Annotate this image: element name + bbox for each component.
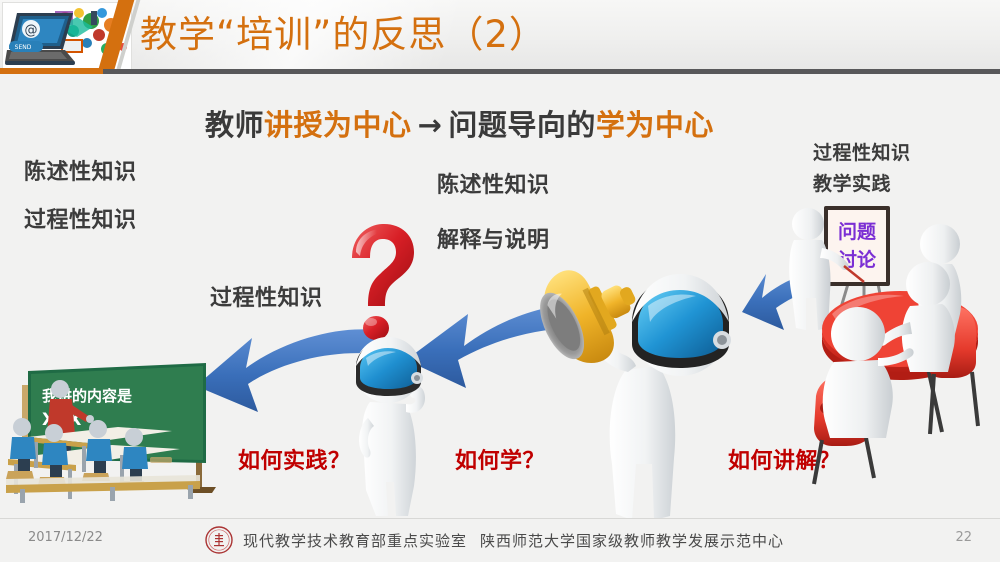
thinking-person-figure-icon — [332, 330, 452, 520]
label-right-top: 过程性知识 — [813, 138, 911, 165]
headline-arrow: → — [412, 108, 449, 142]
label-left-top: 陈述性知识 — [24, 154, 137, 186]
label-center-top: 陈述性知识 — [437, 167, 550, 199]
slide-header: @ SEND 教学“培训”的反思（2） — [0, 0, 1000, 70]
footer-date: 2017/12/22 — [28, 530, 103, 545]
slide-body: 教师讲授为中心→问题导向的学为中心 陈述性知识 过程性知识 陈述性知识 解释与说… — [0, 74, 1000, 518]
label-left-second: 过程性知识 — [24, 202, 137, 234]
label-mid-left: 过程性知识 — [210, 280, 323, 312]
footer-organization: 现代教学技术教育部重点实验室 — [243, 530, 467, 551]
whiteboard-line-1: 问题 — [838, 221, 876, 243]
footer-center-name: 陕西师范大学国家级教师教学发展示范中心 — [480, 530, 784, 551]
headline-highlight2: 学为中心 — [596, 108, 714, 142]
classroom-lecture-scene-icon: 我讲的内容是 XXX — [0, 359, 232, 504]
headline-part1: 教师 — [205, 108, 264, 142]
footer-page-number: 22 — [955, 530, 972, 545]
megaphone-person-figure-icon — [540, 252, 740, 522]
svg-text:@: @ — [25, 23, 38, 38]
group-discussion-scene-icon: 问题 讨论 — [782, 186, 1000, 486]
slide-footer: 2017/12/22 现代教学技术教育部重点实验室 陕西师范大学国家级教师教学发… — [0, 518, 1000, 562]
content-headline: 教师讲授为中心→问题导向的学为中心 — [205, 102, 714, 144]
university-seal-icon — [205, 526, 233, 554]
svg-text:SEND: SEND — [15, 44, 32, 51]
presentation-slide: @ SEND 教学“培训”的反思（2） 教师讲授为中心→问题导向的学为中心 陈述… — [0, 0, 1000, 562]
label-center-second: 解释与说明 — [437, 222, 550, 254]
headline-part2: 问题导向的 — [448, 108, 596, 142]
question-label-2: 如何学？ — [455, 443, 545, 475]
page-title: 教学“培训”的反思（2） — [140, 8, 547, 62]
headline-highlight1: 讲授为中心 — [264, 108, 412, 142]
